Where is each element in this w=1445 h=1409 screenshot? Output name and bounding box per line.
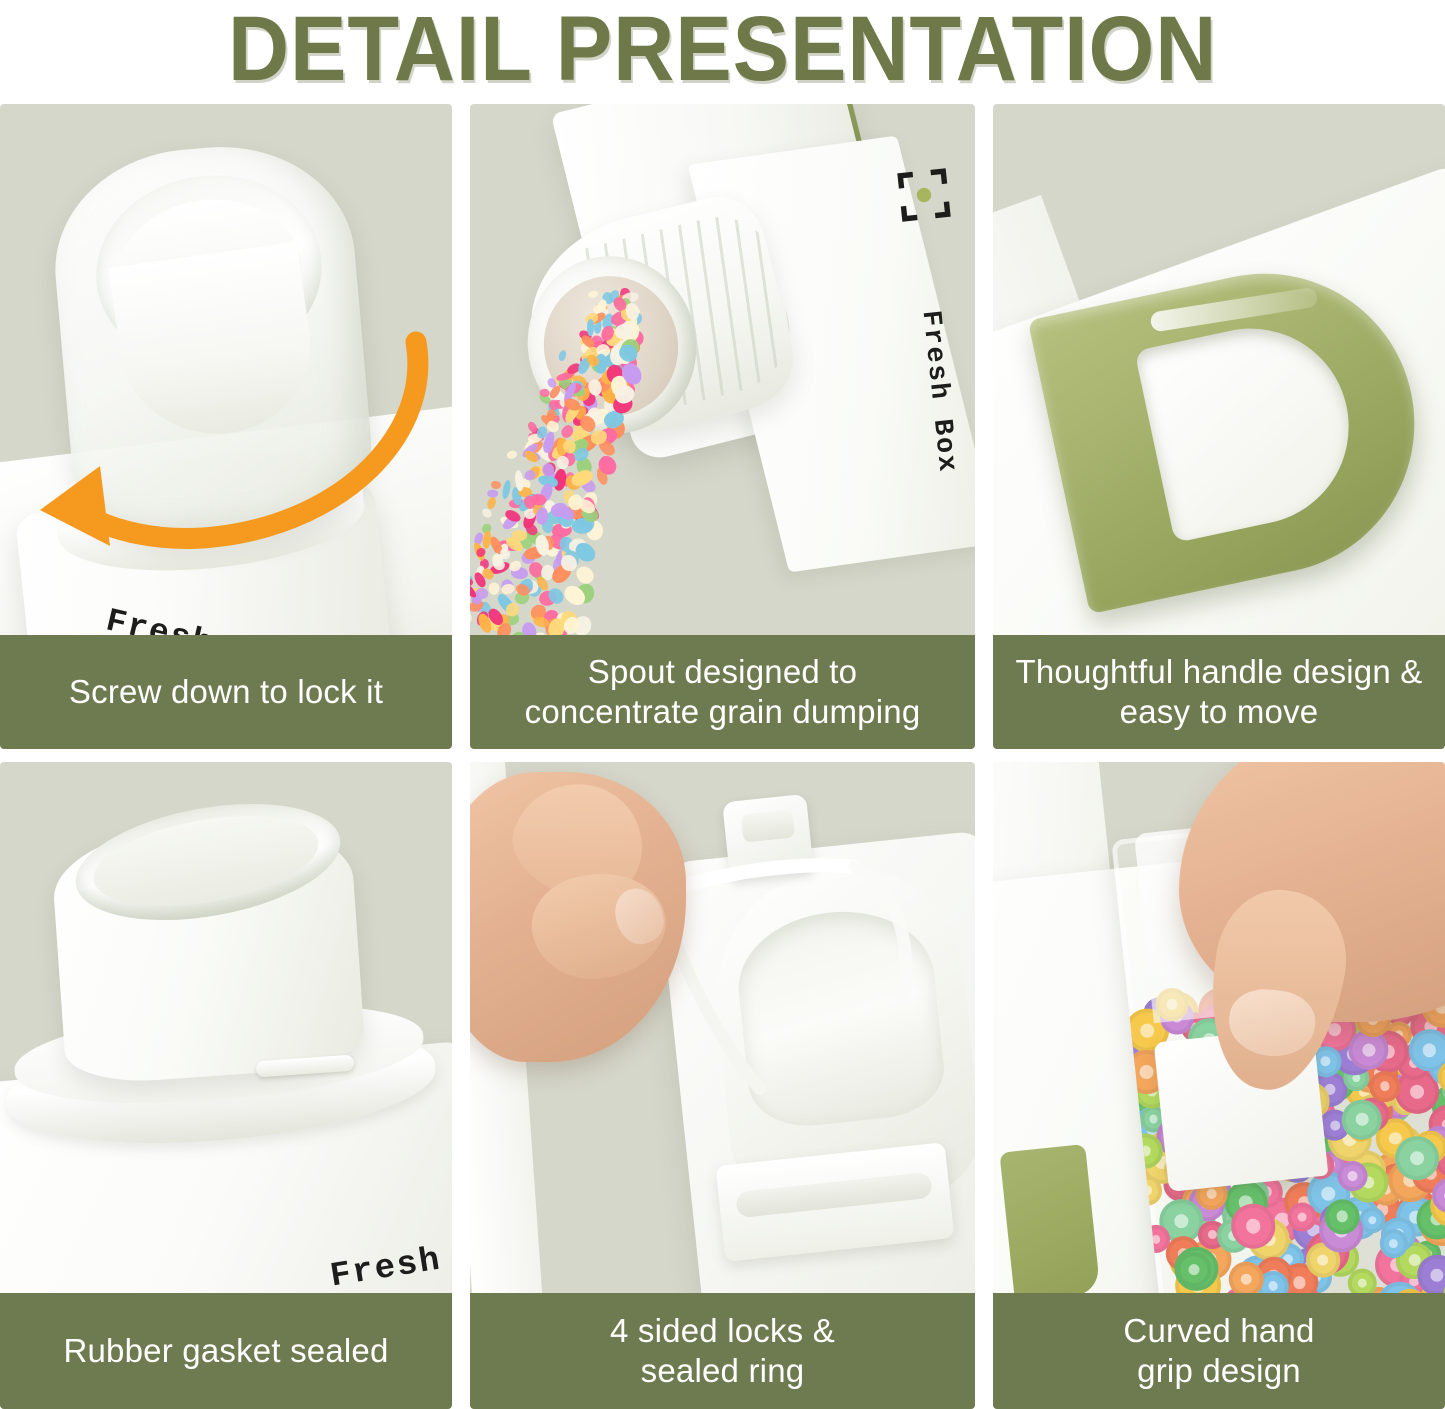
page-title: DETAIL PRESENTATION (228, 3, 1217, 95)
panel-curved-grip: Fresh Box Curved hand grip design (993, 762, 1445, 1409)
detail-presentation-page: DETAIL PRESENTATION Fresh Box Screw dow (0, 0, 1445, 1409)
photo-handle-design (993, 104, 1445, 635)
caption-text: Screw down to lock it (69, 672, 383, 712)
panel-four-sided-locks: 4 sided locks & sealed ring (470, 762, 975, 1409)
photo-rubber-gasket: Fresh (0, 762, 452, 1293)
caption-spout-pour: Spout designed to concentrate grain dump… (470, 635, 975, 749)
page-title-bar: DETAIL PRESENTATION (0, 0, 1445, 98)
caption-text: Spout designed to concentrate grain dump… (525, 652, 921, 733)
photo-curved-grip: Fresh Box (993, 762, 1445, 1293)
caption-handle-design: Thoughtful handle design & easy to move (993, 635, 1445, 749)
photo-four-sided-locks (470, 762, 975, 1293)
caption-text: Thoughtful handle design & easy to move (1015, 652, 1422, 733)
caption-four-sided-locks: 4 sided locks & sealed ring (470, 1293, 975, 1409)
caption-screw-lock: Screw down to lock it (0, 635, 452, 749)
photo-spout-pour: Fresh Box (470, 104, 975, 635)
caption-rubber-gasket: Rubber gasket sealed (0, 1293, 452, 1409)
caption-text: Rubber gasket sealed (63, 1331, 388, 1371)
caption-text: Curved hand grip design (1123, 1311, 1314, 1392)
caption-curved-grip: Curved hand grip design (993, 1293, 1445, 1409)
green-grip-tab (999, 1144, 1100, 1293)
caption-text: 4 sided locks & sealed ring (610, 1311, 835, 1392)
panel-screw-lock: Fresh Box Screw down to lock it (0, 104, 452, 749)
feature-grid: Fresh Box Screw down to lock it (0, 104, 1445, 1409)
panel-handle-design: Thoughtful handle design & easy to move (993, 104, 1445, 749)
panel-rubber-gasket: Fresh Rubber gasket sealed (0, 762, 452, 1409)
fresh-box-logo-icon (894, 165, 953, 224)
photo-screw-lock: Fresh Box (0, 104, 452, 635)
rotation-arrow-icon (14, 314, 434, 574)
panel-spout-pour: Fresh Box Spout designed to concentrate … (470, 104, 975, 749)
